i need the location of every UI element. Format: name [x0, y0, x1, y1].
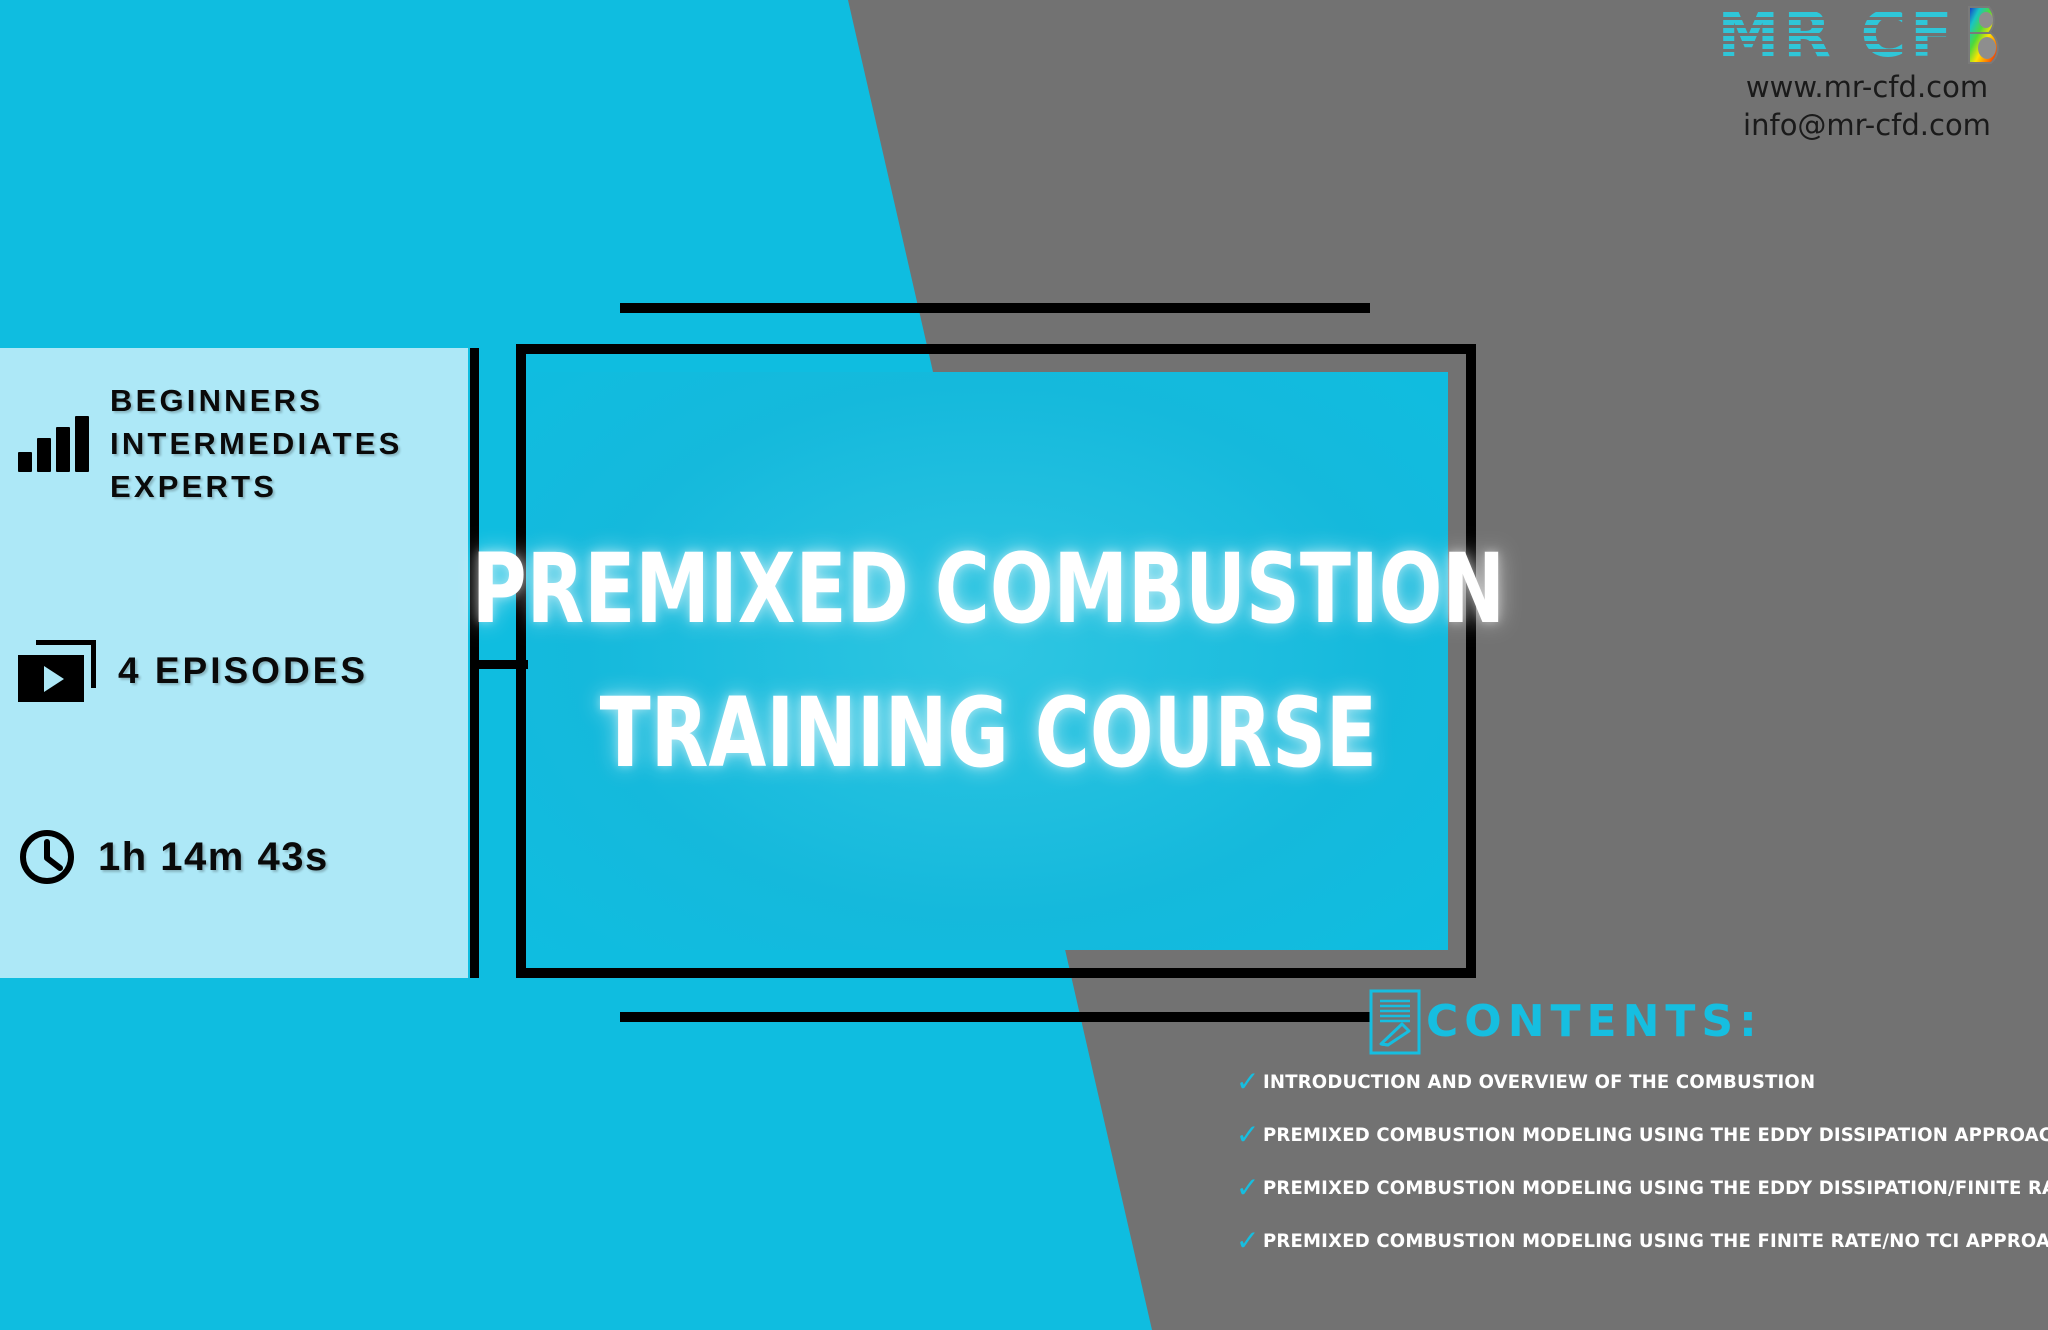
brand-logo: MR CF www.mr-cfd.com info@mr — [1702, 4, 2032, 142]
duration-label: 1h 14m 43s — [98, 835, 329, 880]
duration-row: 1h 14m 43s — [18, 828, 458, 886]
logo-website[interactable]: www.mr-cfd.com — [1702, 70, 2032, 104]
signal-bars-icon — [18, 416, 92, 472]
clock-icon — [18, 828, 76, 886]
contents-item-label: PREMIXED COMBUSTION MODELING USING THE E… — [1263, 1124, 2048, 1146]
list-item: ✓ PREMIXED COMBUSTION MODELING USING THE… — [1236, 1121, 2036, 1149]
logo-email[interactable]: info@mr-cfd.com — [1702, 108, 2032, 142]
episodes-count-label: 4 EPISODES — [118, 650, 368, 692]
contents-item-label: PREMIXED COMBUSTION MODELING USING THE F… — [1263, 1230, 2048, 1252]
skill-level-beginners: BEGINNERS — [110, 385, 402, 416]
episodes-row: 4 EPISODES — [18, 640, 458, 702]
check-icon: ✓ — [1236, 1068, 1259, 1096]
document-pencil-icon — [1368, 988, 1422, 1056]
contents-item-label: INTRODUCTION AND OVERVIEW OF THE COMBUST… — [1263, 1071, 1815, 1093]
skill-levels-list: BEGINNERS INTERMEDIATES EXPERTS — [110, 385, 402, 502]
list-item: ✓ PREMIXED COMBUSTION MODELING USING THE… — [1236, 1174, 2036, 1202]
check-icon: ✓ — [1236, 1121, 1259, 1149]
course-title: PREMIXED COMBUSTION TRAINING COURSE — [528, 372, 1448, 950]
course-title-line-2: TRAINING COURSE — [599, 687, 1376, 779]
video-play-icon — [18, 640, 96, 702]
course-title-line-1: PREMIXED COMBUSTION — [471, 543, 1504, 635]
logo-d-letter-icon — [1962, 4, 2016, 66]
skill-levels-row: BEGINNERS INTERMEDIATES EXPERTS — [18, 385, 458, 502]
logo-mark: MR CF — [1702, 4, 2032, 66]
contents-item-label: PREMIXED COMBUSTION MODELING USING THE E… — [1263, 1177, 2048, 1199]
list-item: ✓ PREMIXED COMBUSTION MODELING USING THE… — [1236, 1227, 2036, 1255]
logo-wordmark: MR CF — [1718, 4, 1957, 66]
skill-level-experts: EXPERTS — [110, 471, 402, 502]
contents-heading: CONTENTS: — [1426, 1000, 1763, 1044]
contents-list: ✓ INTRODUCTION AND OVERVIEW OF THE COMBU… — [1236, 1068, 2036, 1280]
contents-header: CONTENTS: — [1368, 988, 1763, 1056]
course-promo-poster: MR CF www.mr-cfd.com info@mr — [0, 0, 2048, 1330]
skill-level-intermediates: INTERMEDIATES — [110, 428, 402, 459]
accent-line-bottom — [620, 1012, 1370, 1022]
check-icon: ✓ — [1236, 1174, 1259, 1202]
check-icon: ✓ — [1236, 1227, 1259, 1255]
list-item: ✓ INTRODUCTION AND OVERVIEW OF THE COMBU… — [1236, 1068, 2036, 1096]
accent-line-top — [620, 303, 1370, 313]
